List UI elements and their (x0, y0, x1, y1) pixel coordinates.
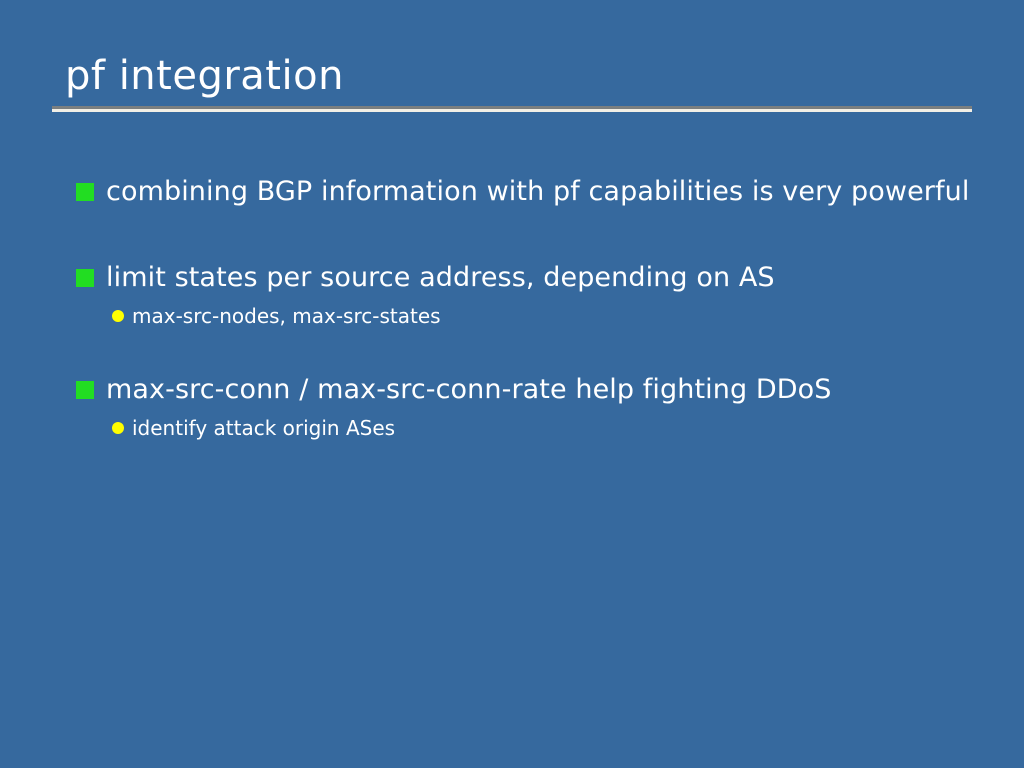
presentation-slide: pf integration combining BGP information… (0, 0, 1024, 768)
spacer (76, 334, 976, 370)
bullet-group: max-src-conn / max-src-conn-rate help fi… (76, 370, 976, 444)
green-square-bullet-icon (76, 269, 94, 287)
title-divider (52, 106, 972, 112)
yellow-dot-bullet-icon (112, 422, 124, 434)
bullet-group: combining BGP information with pf capabi… (76, 172, 976, 212)
bullet-group: limit states per source address, dependi… (76, 258, 976, 332)
slide-title-block: pf integration (52, 52, 972, 112)
bullet-text: max-src-conn / max-src-conn-rate help fi… (106, 370, 976, 410)
green-square-bullet-icon (76, 381, 94, 399)
yellow-dot-bullet-icon (112, 310, 124, 322)
sub-list-item: identify attack origin ASes (76, 412, 976, 444)
list-item: combining BGP information with pf capabi… (76, 172, 976, 212)
page-title: pf integration (52, 52, 972, 100)
sub-list-item: max-src-nodes, max-src-states (76, 300, 976, 332)
sub-bullet-text: max-src-nodes, max-src-states (132, 300, 976, 332)
list-item: max-src-conn / max-src-conn-rate help fi… (76, 370, 976, 410)
spacer (76, 214, 976, 258)
bullet-text: limit states per source address, dependi… (106, 258, 976, 298)
sub-bullet-text: identify attack origin ASes (132, 412, 976, 444)
green-square-bullet-icon (76, 183, 94, 201)
bullet-text: combining BGP information with pf capabi… (106, 172, 976, 212)
list-item: limit states per source address, dependi… (76, 258, 976, 298)
slide-body: combining BGP information with pf capabi… (76, 172, 976, 446)
